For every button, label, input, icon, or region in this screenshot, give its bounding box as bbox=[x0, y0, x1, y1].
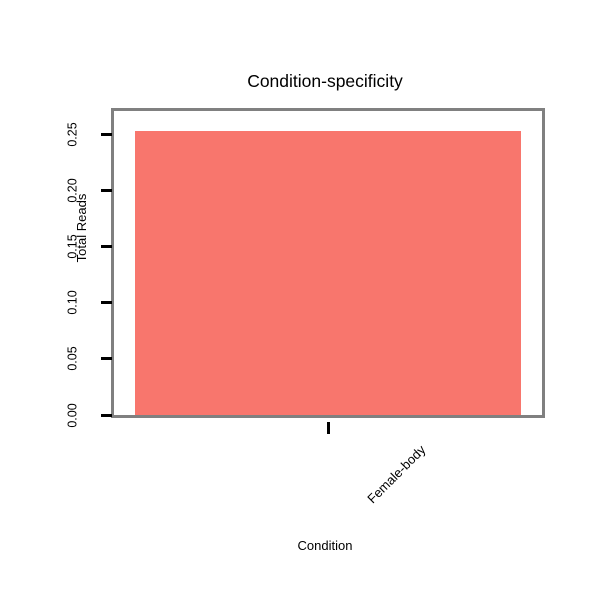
plot-area: 0.000.050.100.150.200.25Female-body bbox=[114, 111, 542, 415]
y-axis-tick-mark bbox=[101, 414, 112, 417]
y-axis-tick-mark bbox=[101, 301, 112, 304]
y-axis-tick-mark bbox=[101, 245, 112, 248]
y-axis-tick-mark bbox=[101, 133, 112, 136]
chart-title: Condition-specificity bbox=[0, 71, 600, 91]
x-axis-tick-label: Female-body bbox=[364, 442, 428, 506]
y-axis-tick-mark bbox=[101, 357, 112, 360]
x-axis-tick-mark bbox=[327, 422, 330, 434]
y-axis-tick-label: 0.05 bbox=[67, 336, 80, 382]
y-axis-tick-label: 0.25 bbox=[67, 111, 80, 157]
bar-female-body bbox=[135, 131, 520, 415]
y-axis-tick-mark bbox=[101, 189, 112, 192]
x-axis-title: Condition bbox=[0, 538, 600, 553]
plot-panel: 0.000.050.100.150.200.25Female-body Tota… bbox=[111, 108, 545, 418]
y-axis-title: Total Reads bbox=[75, 168, 89, 288]
y-axis-tick-label: 0.00 bbox=[67, 392, 80, 438]
chart-figure: Condition-specificity 0.000.050.100.150.… bbox=[0, 0, 600, 600]
